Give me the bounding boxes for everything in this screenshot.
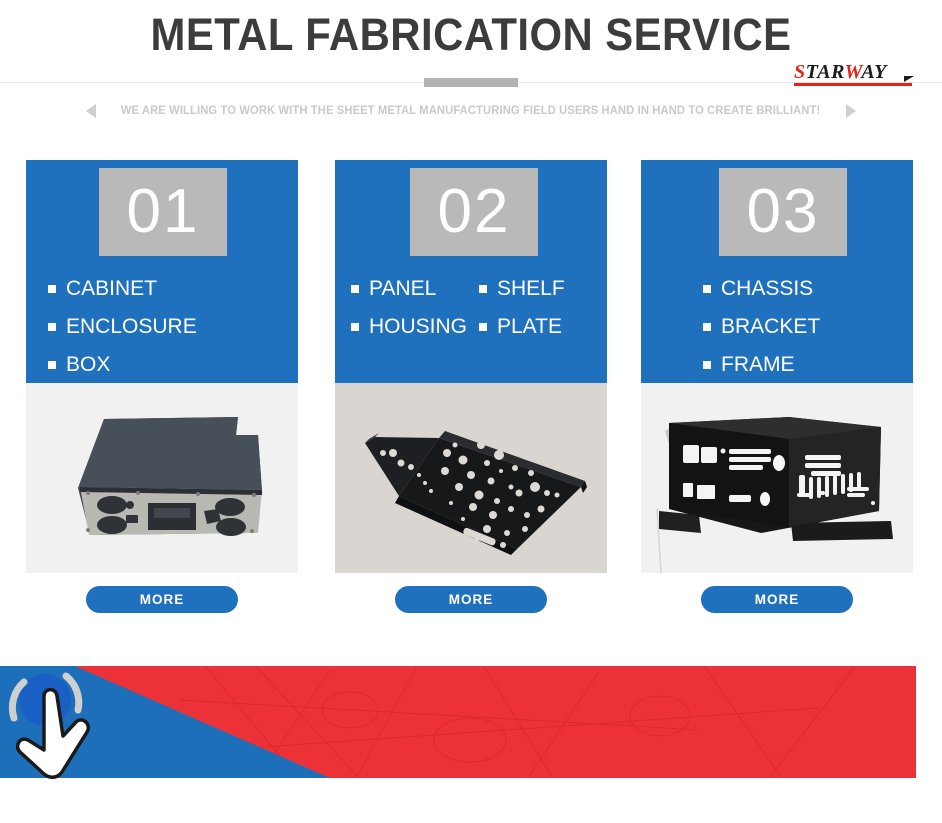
feature-label: HOUSING (369, 308, 467, 346)
triangle-right-icon[interactable] (846, 104, 856, 118)
more-button[interactable]: MORE (395, 586, 547, 613)
feature-label: FRAME (721, 346, 795, 384)
feature-label: PLATE (497, 308, 562, 346)
bullet-square-icon (479, 323, 487, 331)
logo-underline (794, 83, 912, 86)
product-photo (641, 383, 913, 573)
list-item: SHELF (479, 270, 607, 308)
card-footer: MORE (26, 573, 298, 625)
product-photo (26, 383, 298, 573)
feature-label: CABINET (66, 270, 157, 308)
logo-letters-tar: TAR (806, 61, 845, 83)
bullet-square-icon (48, 361, 56, 369)
card-footer: MORE (641, 573, 913, 625)
list-item: CHASSIS (703, 270, 913, 308)
promo-page: METAL FABRICATION SERVICE STARWAY WE ARE… (0, 0, 942, 823)
product-card-grid: 01 CABINET ENCLOSURE BOX (0, 160, 942, 625)
logo-letter-s: S (794, 61, 806, 83)
cta-banner[interactable]: DO YOU WANT TO CUSTOMIZE YOUR OWN SHEET … (0, 660, 942, 823)
divider-chip (424, 78, 518, 87)
feature-label: BOX (66, 346, 110, 384)
feature-label: ENCLOSURE (66, 308, 197, 346)
triangle-left-icon[interactable] (86, 104, 96, 118)
tagline-row: WE ARE WILLING TO WORK WITH THE SHEET ME… (0, 98, 942, 124)
product-card[interactable]: 02 PANEL SHELF HOUSING PLATE (335, 160, 607, 625)
card-number-badge: 02 (410, 168, 538, 256)
list-item: HOUSING (351, 308, 479, 346)
bullet-square-icon (48, 285, 56, 293)
bullet-square-icon (479, 285, 487, 293)
list-item: ENCLOSURE (48, 308, 298, 346)
logo-letters-ay: AY (861, 61, 886, 83)
card-number-badge: 03 (719, 168, 847, 256)
list-item: BRACKET (703, 308, 913, 346)
page-title: METAL FABRICATION SERVICE (33, 6, 909, 64)
more-button[interactable]: MORE (86, 586, 238, 613)
card-header: 03 CHASSIS BRACKET FRAME (641, 160, 913, 383)
starway-logo: STARWAY (794, 62, 912, 88)
bullet-square-icon (703, 285, 711, 293)
bullet-square-icon (703, 323, 711, 331)
list-item: BOX (48, 346, 298, 384)
card-header: 02 PANEL SHELF HOUSING PLATE (335, 160, 607, 383)
card-feature-list: PANEL SHELF HOUSING PLATE (335, 270, 607, 346)
card-number-badge: 01 (99, 168, 227, 256)
bullet-square-icon (351, 323, 359, 331)
feature-label: SHELF (497, 270, 565, 308)
feature-label: CHASSIS (721, 270, 813, 308)
list-item: PANEL (351, 270, 479, 308)
list-item: FRAME (703, 346, 913, 384)
card-feature-list: CABINET ENCLOSURE BOX (26, 270, 298, 384)
logo-wordmark: STARWAY (794, 62, 887, 82)
product-card[interactable]: 03 CHASSIS BRACKET FRAME (641, 160, 913, 625)
list-item: CABINET (48, 270, 298, 308)
list-item: PLATE (479, 308, 607, 346)
hand-pointer-click-icon[interactable] (0, 660, 110, 788)
more-button[interactable]: MORE (701, 586, 853, 613)
card-footer: MORE (335, 573, 607, 625)
tagline-text: WE ARE WILLING TO WORK WITH THE SHEET ME… (121, 105, 821, 117)
feature-label: PANEL (369, 270, 436, 308)
card-header: 01 CABINET ENCLOSURE BOX (26, 160, 298, 383)
bullet-square-icon (48, 323, 56, 331)
bullet-square-icon (351, 285, 359, 293)
logo-letter-w: W (845, 61, 862, 83)
bullet-square-icon (703, 361, 711, 369)
product-photo (335, 383, 607, 573)
card-feature-list: CHASSIS BRACKET FRAME (641, 270, 913, 384)
feature-label: BRACKET (721, 308, 820, 346)
logo-swoosh-icon (904, 76, 914, 82)
product-card[interactable]: 01 CABINET ENCLOSURE BOX (26, 160, 298, 625)
